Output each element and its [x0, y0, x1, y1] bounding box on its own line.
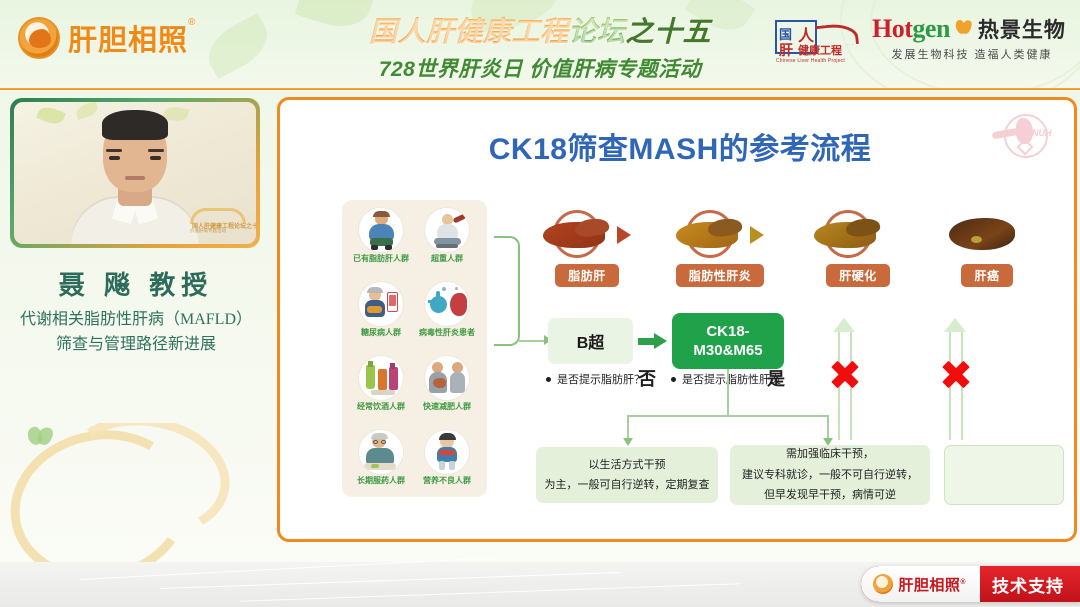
population-item[interactable]: 已有脂肪肝人群 — [348, 208, 414, 282]
hotgen-english: Hotgen — [872, 14, 950, 44]
liver-stage: 肝硬化 — [799, 208, 917, 287]
branch-yes-line — [827, 415, 829, 440]
ultrasound-box[interactable]: B超 — [548, 318, 633, 364]
topic-line-2: 筛查与管理路径新进展 — [10, 333, 262, 358]
outcome-yes-line3: 但早发现早干预，病情可逆 — [742, 485, 918, 505]
population-bracket-connector — [494, 236, 520, 346]
liver-cancer-icon — [941, 208, 1033, 260]
video-watermark: 国人肝健康工程论坛之十五 价值肝病专题活动 — [188, 208, 250, 234]
hotgen-row: Hotgen 热景生物 — [872, 14, 1072, 44]
speaker-name: 聂 飚 教授 — [0, 265, 272, 302]
leaf-decor-icon — [199, 13, 276, 79]
brand-logo: 肝胆相照® — [18, 17, 196, 59]
progression-arrow-up-left — [833, 318, 855, 332]
portrait-brow-right — [148, 149, 164, 152]
obese-person-icon — [359, 208, 403, 252]
event-title: 国人肝健康工程论坛之十五 — [336, 10, 744, 50]
butterfly-icon — [956, 18, 972, 40]
population-grid: 已有脂肪肝人群 超重人群 — [348, 208, 481, 504]
progression-arrow-icon — [617, 226, 631, 244]
tech-support-badge[interactable]: 肝胆相照® 技术支持 — [861, 566, 1080, 602]
ultrasound-bullet-text: 是否提示脂肪肝？ — [557, 372, 645, 389]
portrait-hair — [102, 110, 168, 140]
footer-swoosh-decor — [240, 583, 740, 601]
bullet-dot-icon — [671, 377, 676, 382]
watermark-line2: 价值肝病专题活动 — [190, 228, 226, 234]
population-label: 糖尿病人群 — [348, 328, 414, 337]
hotgen-logo: Hotgen 热景生物 发展生物科技 造福人类健康 — [872, 14, 1072, 62]
steatohepatitis-icon — [674, 208, 766, 260]
branch-no-arrowhead — [623, 438, 633, 446]
registered-mark: ® — [188, 17, 196, 28]
china-liver-health-project-logo: 国 肝 人 健康工程 Chinese Liver Health Project — [772, 18, 862, 70]
ck18-line2: M30&M65 — [693, 341, 762, 361]
liver-stage: 脂肪肝 — [528, 208, 646, 287]
flow-arrow-icon — [638, 333, 668, 349]
outcome-yes-line2: 建议专科就诊，一般不可自行逆转， — [742, 465, 918, 485]
diabetes-person-icon — [359, 282, 403, 326]
outcome-no-line1: 以生活方式干预 — [545, 455, 710, 475]
footer-swoosh-decor — [160, 572, 620, 589]
liver-logo-icon — [873, 574, 893, 594]
portrait-eye-left — [109, 156, 120, 160]
bracket-arrow-line — [519, 340, 547, 342]
topic-line-1: 代谢相关脂肪性肝病（MAFLD） — [10, 308, 262, 333]
presentation-slide[interactable]: NUH CK18筛查MASH的参考流程 已有脂肪肝人群 — [277, 97, 1077, 542]
population-item[interactable]: 糖尿病人群 — [348, 282, 414, 356]
fatty-liver-icon — [541, 208, 633, 260]
badge-tech-support-text: 技术支持 — [980, 566, 1080, 602]
arrow-shaft — [638, 338, 655, 345]
bullet-dot-icon — [546, 377, 551, 382]
clhp-gan-char: 肝 — [779, 40, 793, 60]
header-title-block: 国人肝健康工程论坛之十五 728世界肝炎日 价值肝病专题活动 — [336, 10, 744, 83]
decision-branch-line — [627, 415, 829, 417]
page-header: 肝胆相照® 国人肝健康工程论坛之十五 728世界肝炎日 价值肝病专题活动 国 肝… — [0, 0, 1080, 90]
clhp-word: 健康工程 — [798, 42, 842, 58]
block-x-icon — [826, 355, 864, 393]
outcome-no-line2: 为主，一般可自行逆转，定期复查 — [545, 475, 710, 495]
liver-stage: 脂肪性肝炎 — [661, 208, 779, 287]
app-root: 肝胆相照® 国人肝健康工程论坛之十五 728世界肝炎日 价值肝病专题活动 国 肝… — [0, 0, 1080, 607]
liver-stage: 肝癌 — [928, 208, 1046, 287]
slide-title: CK18筛查MASH的参考流程 — [280, 124, 1077, 168]
tumor-mark — [971, 236, 982, 243]
speaker-video-frame[interactable]: 国人肝健康工程论坛之十五 价值肝病专题活动 — [10, 98, 260, 248]
cirrhosis-icon — [812, 208, 904, 260]
portrait-brow-left — [106, 149, 122, 152]
badge-brand-text: 肝胆相照® — [898, 574, 966, 595]
clhp-english: Chinese Liver Health Project — [776, 58, 845, 64]
population-label: 经常饮酒人群 — [348, 402, 414, 411]
population-item[interactable]: 经常饮酒人群 — [348, 356, 414, 430]
butterfly-icon — [28, 427, 54, 449]
population-label: 长期服药人群 — [348, 476, 414, 485]
at-risk-population-panel: 已有脂肪肝人群 超重人群 — [342, 200, 487, 497]
branch-no-line — [627, 415, 629, 440]
population-item[interactable]: 超重人群 — [414, 208, 480, 282]
long-term-medication-icon — [359, 430, 403, 474]
brand-name: 肝胆相照® — [68, 17, 196, 59]
liver-lobe — [949, 218, 1015, 250]
population-label: 快速减肥人群 — [414, 402, 480, 411]
population-label: 病毒性肝炎患者 — [414, 328, 480, 337]
speaker-video[interactable]: 国人肝健康工程论坛之十五 价值肝病专题活动 — [14, 102, 256, 244]
population-item[interactable]: 快速减肥人群 — [414, 356, 480, 430]
alcohol-drinker-icon — [359, 356, 403, 400]
hotgen-chinese: 热景生物 — [978, 14, 1066, 44]
progression-arrow-up-right — [944, 318, 966, 332]
liver-stage-label: 脂肪性肝炎 — [676, 264, 765, 287]
leaf-decor-icon — [75, 102, 100, 120]
overweight-person-icon — [425, 208, 469, 252]
outcome-extra-box[interactable] — [944, 445, 1064, 505]
badge-brand-section: 肝胆相照® — [861, 566, 980, 602]
liver-stage-label: 脂肪肝 — [555, 264, 619, 287]
header-divider — [0, 88, 1080, 90]
population-label: 营养不良人群 — [414, 476, 480, 485]
outcome-lifestyle-box[interactable]: 以生活方式干预 为主，一般可自行逆转，定期复查 — [536, 447, 718, 503]
registered-mark: ® — [960, 579, 966, 586]
speaker-portrait — [71, 126, 199, 244]
ck18-test-box[interactable]: CK18- M30&M65 — [672, 313, 784, 369]
viral-hepatitis-icon — [425, 282, 469, 326]
portrait-eye-right — [150, 156, 161, 160]
hotgen-tagline: 发展生物科技 造福人类健康 — [872, 46, 1072, 62]
outcome-clinical-box[interactable]: 需加强临床干预， 建议专科就诊，一般不可自行逆转， 但早发现早干预，病情可逆 — [730, 445, 930, 505]
population-item[interactable]: 病毒性肝炎患者 — [414, 282, 480, 356]
population-label: 超重人群 — [414, 254, 480, 263]
left-panel: 国人肝健康工程论坛之十五 价值肝病专题活动 聂 飚 教授 代谢相关脂肪性肝病（M… — [0, 93, 272, 607]
liver-progression-row: 脂肪肝 脂肪性肝炎 肝硬化 — [528, 208, 1048, 300]
decision-stem-line — [727, 369, 729, 415]
branch-label-yes: 是 — [767, 365, 785, 391]
branch-label-no: 否 — [638, 365, 656, 391]
event-subtitle: 728世界肝炎日 价值肝病专题活动 — [336, 53, 744, 83]
outcome-yes-line1: 需加强临床干预， — [742, 444, 918, 464]
liver-stage-label: 肝癌 — [961, 264, 1012, 287]
liver-stage-label: 肝硬化 — [826, 264, 890, 287]
population-label: 已有脂肪肝人群 — [348, 254, 414, 263]
speaker-topic: 代谢相关脂肪性肝病（MAFLD） 筛查与管理路径新进展 — [10, 308, 262, 358]
portrait-mouth — [125, 176, 145, 180]
outcome-lifestyle-text: 以生活方式干预 为主，一般可自行逆转，定期复查 — [545, 455, 710, 496]
liver-logo-icon — [18, 17, 60, 59]
malnutrition-icon — [425, 430, 469, 474]
population-item[interactable]: 长期服药人群 — [348, 430, 414, 504]
rapid-weightloss-icon — [425, 356, 469, 400]
leaf-decor-icon — [36, 104, 66, 128]
outcome-clinical-text: 需加强临床干预， 建议专科就诊，一般不可自行逆转， 但早发现早干预，病情可逆 — [742, 444, 918, 505]
population-item[interactable]: 营养不良人群 — [414, 430, 480, 504]
ck18-line1: CK18- — [706, 322, 749, 342]
block-x-icon — [937, 355, 975, 393]
arrow-tip — [654, 333, 667, 349]
progression-arrow-icon — [750, 226, 764, 244]
